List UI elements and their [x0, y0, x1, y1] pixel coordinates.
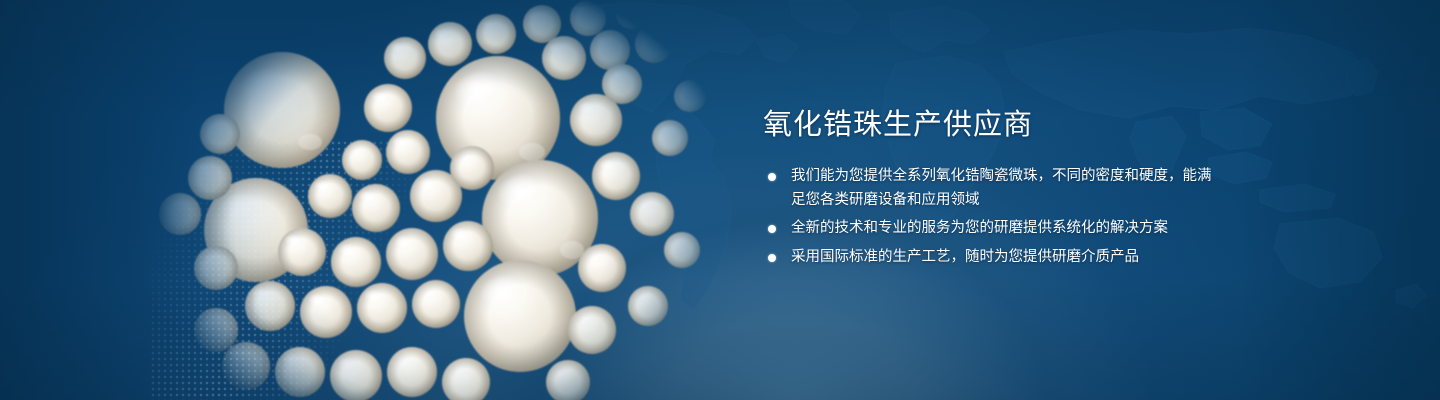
filled-circle-bullet-icon	[768, 225, 776, 233]
list-item: 采用国际标准的生产工艺，随时为您提供研磨介质产品	[763, 246, 1221, 270]
feature-list: 我们能为您提供全系列氧化锆陶瓷微珠，不同的密度和硬度，能满足您各类研磨设备和应用…	[763, 165, 1383, 269]
filled-circle-bullet-icon	[768, 173, 776, 181]
hero-banner: 氧化锆珠生产供应商 我们能为您提供全系列氧化锆陶瓷微珠，不同的密度和硬度，能满足…	[0, 0, 1440, 400]
list-item-label: 全新的技术和专业的服务为您的研磨提供系统化的解决方案	[791, 220, 1168, 236]
list-item: 全新的技术和专业的服务为您的研磨提供系统化的解决方案	[763, 217, 1221, 241]
filled-circle-bullet-icon	[768, 254, 776, 262]
zirconia-beads-photo	[150, 0, 730, 400]
list-item-label: 采用国际标准的生产工艺，随时为您提供研磨介质产品	[791, 249, 1139, 265]
list-item-label: 我们能为您提供全系列氧化锆陶瓷微珠，不同的密度和硬度，能满足您各类研磨设备和应用…	[791, 168, 1212, 208]
list-item: 我们能为您提供全系列氧化锆陶瓷微珠，不同的密度和硬度，能满足您各类研磨设备和应用…	[763, 165, 1221, 212]
page-title: 氧化锆珠生产供应商	[763, 105, 1383, 145]
banner-copy: 氧化锆珠生产供应商 我们能为您提供全系列氧化锆陶瓷微珠，不同的密度和硬度，能满足…	[763, 105, 1383, 274]
